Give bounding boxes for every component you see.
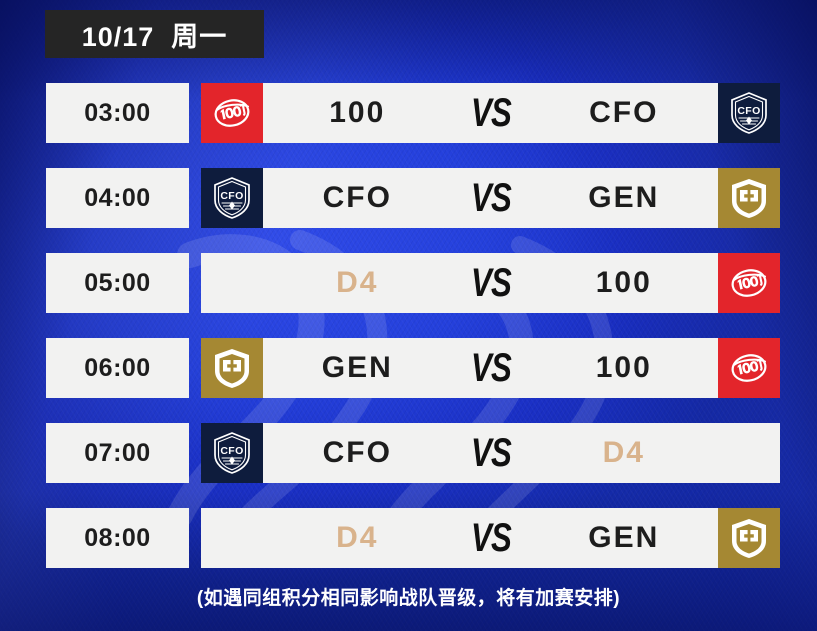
match-bar[interactable]: GENVS100 [201, 338, 780, 398]
right-logo-empty [718, 423, 780, 483]
logo-gen [201, 338, 263, 398]
left-team-name: CFO [263, 181, 452, 215]
match-time-chip: 07:00 [46, 423, 189, 483]
right-team-name: GEN [530, 521, 719, 555]
left-team-name: 100 [263, 96, 452, 130]
match-time: 08:00 [84, 524, 150, 553]
match-row[interactable]: 04:00CFOCFOVSGEN [46, 168, 780, 228]
match-row[interactable]: 08:00D4VSGEN [46, 508, 780, 568]
logo-gen [718, 168, 780, 228]
versus-label: VS [460, 346, 521, 391]
match-time-chip: 03:00 [46, 83, 189, 143]
row-gap [189, 253, 201, 313]
date-label: 10/17 周一 [82, 15, 228, 54]
versus-label: VS [460, 91, 521, 136]
row-gap [189, 508, 201, 568]
left-logo-empty [201, 253, 263, 313]
svg-text:CFO: CFO [220, 190, 243, 202]
match-teams: GENVS100 [263, 338, 718, 398]
svg-text:CFO: CFO [220, 445, 243, 457]
match-time-chip: 06:00 [46, 338, 189, 398]
logo-cfo: CFO [201, 168, 263, 228]
row-gap [189, 423, 201, 483]
versus-label: VS [460, 261, 521, 306]
right-team-name: GEN [530, 181, 719, 215]
match-bar[interactable]: CFOCFOVSGEN [201, 168, 780, 228]
row-gap [189, 338, 201, 398]
match-time-chip: 08:00 [46, 508, 189, 568]
versus-label: VS [460, 516, 521, 561]
date-header-chip: 10/17 周一 [45, 10, 264, 58]
logo-cfo: CFO [201, 423, 263, 483]
right-team-name: 100 [530, 351, 719, 385]
schedule-graphic: 10/17 周一 03:00100VSCFOCFO04:00CFOCFOVSGE… [0, 0, 817, 631]
match-teams: CFOVSGEN [263, 168, 718, 228]
match-time: 05:00 [84, 269, 150, 298]
match-time: 06:00 [84, 354, 150, 383]
row-gap [189, 83, 201, 143]
left-team-name: CFO [263, 436, 452, 470]
match-time-chip: 05:00 [46, 253, 189, 313]
row-gap [189, 168, 201, 228]
match-teams: 100VSCFO [263, 83, 718, 143]
match-bar[interactable]: 100VSCFOCFO [201, 83, 780, 143]
match-bar[interactable]: D4VSGEN [201, 508, 780, 568]
svg-text:CFO: CFO [737, 105, 760, 117]
match-bar[interactable]: CFOCFOVSD4 [201, 423, 780, 483]
left-team-name: D4 [263, 266, 452, 300]
logo-cfo: CFO [718, 83, 780, 143]
logo-gen [718, 508, 780, 568]
match-time: 04:00 [84, 184, 150, 213]
match-row[interactable]: 07:00CFOCFOVSD4 [46, 423, 780, 483]
match-bar[interactable]: D4VS100 [201, 253, 780, 313]
logo-100t [718, 338, 780, 398]
match-time-chip: 04:00 [46, 168, 189, 228]
logo-100t [201, 83, 263, 143]
match-teams: D4VSGEN [263, 508, 718, 568]
match-row[interactable]: 06:00GENVS100 [46, 338, 780, 398]
logo-100t [718, 253, 780, 313]
right-team-name: D4 [530, 436, 719, 470]
versus-label: VS [460, 176, 521, 221]
match-row[interactable]: 05:00D4VS100 [46, 253, 780, 313]
versus-label: VS [460, 431, 521, 476]
right-team-name: CFO [530, 96, 719, 130]
match-teams: D4VS100 [263, 253, 718, 313]
right-team-name: 100 [530, 266, 719, 300]
left-logo-empty [201, 508, 263, 568]
left-team-name: GEN [263, 351, 452, 385]
footnote-text: (如遇同组积分相同影响战队晋级，将有加赛安排) [0, 583, 817, 610]
match-time: 03:00 [84, 99, 150, 128]
match-time: 07:00 [84, 439, 150, 468]
left-team-name: D4 [263, 521, 452, 555]
match-row[interactable]: 03:00100VSCFOCFO [46, 83, 780, 143]
match-teams: CFOVSD4 [263, 423, 718, 483]
